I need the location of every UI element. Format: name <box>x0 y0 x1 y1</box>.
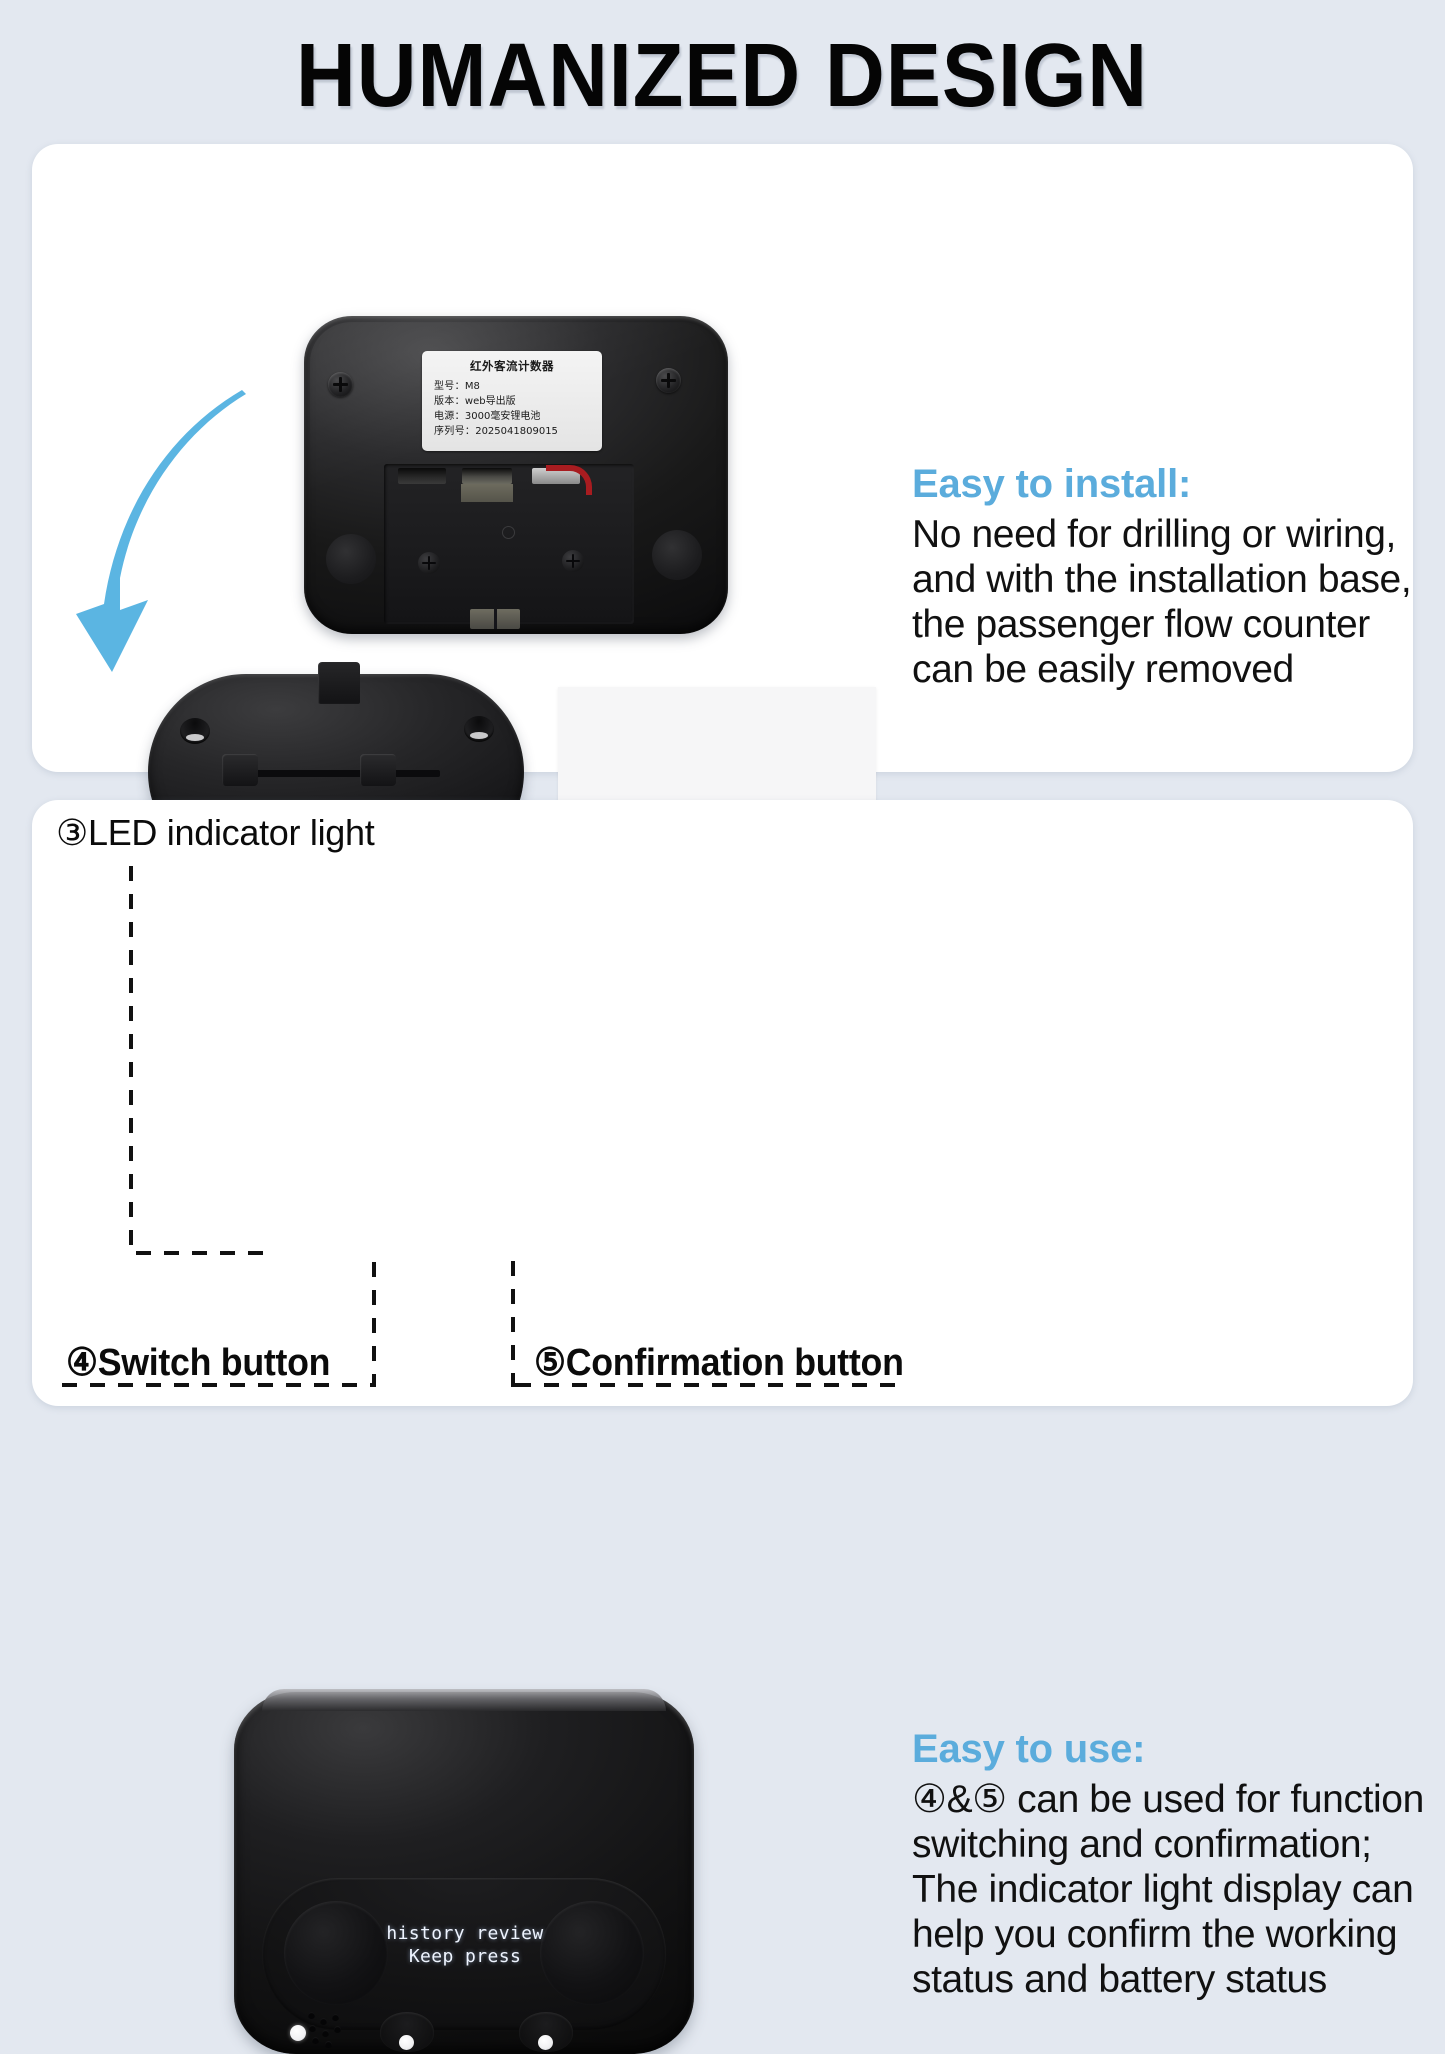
use-body-text: ④&⑤ can be used for function switching a… <box>912 1777 1432 2002</box>
device-back-view: 红外客流计数器 型号：M8 版本：web导出版 电源：3000毫安锂电池 序列号… <box>304 316 728 634</box>
install-card: 红外客流计数器 型号：M8 版本：web导出版 电源：3000毫安锂电池 序列号… <box>32 144 1413 772</box>
curved-down-arrow-icon <box>74 388 310 684</box>
speaker-grille-dot <box>309 2025 316 2032</box>
red-battery-wire <box>546 465 592 495</box>
spec-value-model: M8 <box>465 381 480 392</box>
speaker-grille-dot <box>332 2014 339 2021</box>
mount-screw-hole-top-right <box>464 716 494 742</box>
use-body-line-2: The indicator light display can help you… <box>912 1867 1432 2002</box>
spec-label: 红外客流计数器 型号：M8 版本：web导出版 电源：3000毫安锂电池 序列号… <box>422 351 602 451</box>
infrared-sensor-lens-left <box>284 1901 388 2005</box>
lcd-line-1: history review <box>380 1922 550 1945</box>
device-top-bevel <box>262 1689 666 1711</box>
speaker-grille-dot <box>312 2037 319 2044</box>
led-and-grille-cluster <box>282 2008 352 2046</box>
screw-icon-top-left <box>328 372 353 397</box>
use-copy-block: Easy to use: ④&⑤ can be used for functio… <box>912 1725 1432 2002</box>
foot-pad-bottom-left <box>326 534 376 584</box>
lcd-line-2: Keep press <box>380 1945 550 1968</box>
speaker-grille-dot <box>325 2041 332 2048</box>
spec-value-power: 3000毫安锂电池 <box>465 411 540 422</box>
spec-label-title: 红外客流计数器 <box>428 358 596 374</box>
spec-row-model: 型号：M8 <box>428 379 596 394</box>
infrared-sensor-lens-right <box>540 1901 644 2005</box>
bay-marker-icon <box>502 526 515 539</box>
spec-key-model: 型号： <box>434 381 465 392</box>
title-bar: HUMANIZED DESIGN <box>0 26 1445 126</box>
spec-value-version: web导出版 <box>465 396 516 407</box>
mount-rail-block-left <box>222 754 258 786</box>
speaker-grille-dot <box>308 2012 315 2019</box>
install-body-text: No need for drilling or wiring, and with… <box>912 512 1412 692</box>
connector-left <box>398 468 446 484</box>
speaker-grille-dot <box>334 2026 341 2033</box>
confirmation-button[interactable] <box>538 2035 553 2050</box>
mount-top-tab <box>318 662 360 704</box>
foot-pad-bottom-right <box>652 530 702 580</box>
switch-button[interactable] <box>399 2035 414 2050</box>
use-heading: Easy to use: <box>912 1725 1432 1773</box>
install-copy-block: Easy to install: No need for drilling or… <box>912 460 1412 692</box>
mount-rail-block-right <box>360 754 396 786</box>
battery-compartment <box>384 464 634 624</box>
bay-screw-left <box>418 552 440 574</box>
use-body-line-1: ④&⑤ can be used for function switching a… <box>912 1778 1424 1866</box>
speaker-grille-dot <box>320 2018 327 2025</box>
spec-key-power: 电源： <box>434 411 465 422</box>
spec-row-version: 版本：web导出版 <box>428 394 596 409</box>
led-indicator-light <box>290 2025 306 2041</box>
lcd-display: history review Keep press <box>380 1922 550 1968</box>
page-title: HUMANIZED DESIGN <box>297 25 1149 128</box>
callout-switch-button: ④Switch button <box>66 1340 330 1385</box>
spec-row-serial: 序列号：2025041809015 <box>428 424 596 439</box>
spec-value-serial: 2025041809015 <box>475 426 558 437</box>
bay-bottom-connector <box>470 609 520 629</box>
install-heading: Easy to install: <box>912 460 1412 508</box>
speaker-grille-dot <box>322 2030 329 2037</box>
screw-icon-top-right <box>656 368 681 393</box>
bay-screw-right <box>562 550 584 572</box>
callout-confirmation-button: ⑤Confirmation button <box>534 1340 904 1385</box>
device-front-view: history review Keep press <box>234 1692 694 2054</box>
spec-row-power: 电源：3000毫安锂电池 <box>428 409 596 424</box>
spec-key-version: 版本： <box>434 396 465 407</box>
spec-key-serial: 序列号： <box>434 426 475 437</box>
connector-middle <box>462 468 512 484</box>
callout-led-indicator-light: ③LED indicator light <box>56 812 374 854</box>
mount-rail-bar <box>240 770 440 777</box>
mount-screw-hole-top-left <box>180 718 210 744</box>
use-card: history review Keep press Easy to use: ④… <box>32 800 1413 1406</box>
